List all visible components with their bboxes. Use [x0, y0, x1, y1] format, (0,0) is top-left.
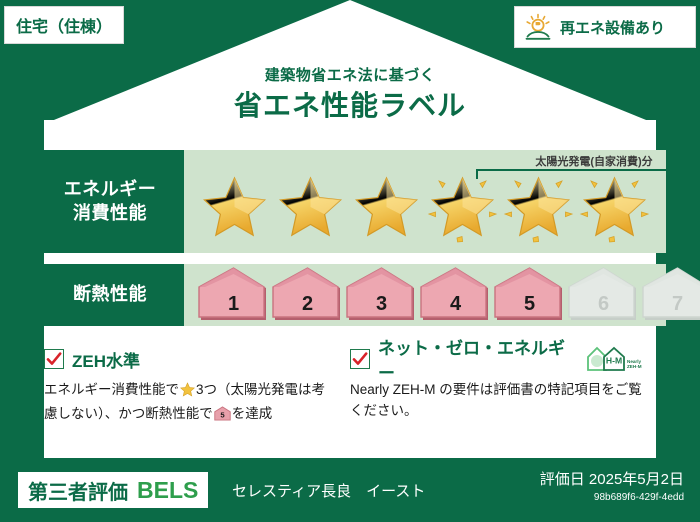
claim-zeh-standard: ZEH水準 エネルギー消費性能で3つ（太陽光発電は考慮しない）、かつ断熱性能で5…: [44, 346, 350, 448]
claim-nze-header: ネット・ゼロ・エネルギー H-M Nearly ZEH-M: [350, 346, 642, 372]
claim-zeh-header: ZEH水準: [44, 346, 336, 372]
checkbox-checked-icon: [350, 349, 370, 369]
svg-text:5: 5: [220, 411, 225, 420]
claim-nze-body: Nearly ZEH-M の要件は評価書の特記項目をご覧ください。: [350, 379, 642, 422]
nearly-zeh-m-logo: H-M Nearly ZEH-M: [584, 344, 642, 374]
insulation-level-number: 6: [568, 293, 639, 316]
claim-zeh-body-pre: エネルギー消費性能で: [44, 382, 179, 397]
insulation-level-3: 3: [346, 267, 417, 323]
insulation-level-number: 1: [198, 293, 269, 316]
claim-zeh-body-post: を達成: [232, 406, 273, 421]
bels-jp-label: 第三者評価: [28, 476, 128, 505]
star-icon: [180, 382, 195, 403]
insulation-level-number: 4: [420, 293, 491, 316]
claim-zeh-body: エネルギー消費性能で3つ（太陽光発電は考慮しない）、かつ断熱性能で5を達成: [44, 379, 336, 428]
insulation-performance-key: 断熱性能: [36, 264, 184, 326]
star-solar: [426, 174, 499, 248]
property-name: セレスティア長良 イースト: [232, 480, 425, 501]
insulation-level-number: 3: [346, 293, 417, 316]
insulation-level-number: 5: [494, 293, 565, 316]
star-solar: [502, 174, 575, 248]
footer: 第三者評価 BELS セレスティア長良 イースト 評価日 2025年5月2日 9…: [0, 460, 700, 522]
insulation-level-5: 5: [494, 267, 565, 323]
sun-icon: [523, 13, 553, 41]
energy-performance-key: エネルギー 消費性能: [36, 150, 184, 253]
star-base: [274, 174, 347, 248]
claim-zeh-title: ZEH水準: [72, 347, 140, 372]
energy-performance-row: エネルギー 消費性能 太陽光発電(自家消費)分: [36, 150, 666, 253]
claim-net-zero-energy: ネット・ゼロ・エネルギー H-M Nearly ZEH-M Nearly ZEH…: [350, 346, 656, 448]
star-solar: [578, 174, 651, 248]
insulation-level-number: 7: [642, 293, 700, 316]
insulation-level-7: 7: [642, 267, 700, 323]
solar-contribution-note: 太陽光発電(自家消費)分: [474, 153, 700, 169]
insulation-performance-row: 断熱性能 1234567: [36, 264, 666, 326]
insulation-level-scale: 1234567: [198, 267, 700, 323]
checkbox-checked-icon: [44, 349, 64, 369]
evaluation-date: 評価日 2025年5月2日: [540, 468, 684, 489]
bels-chip: 第三者評価 BELS: [18, 472, 208, 508]
evaluation-id: 98b689f6-429f-4edd: [540, 492, 684, 503]
insulation-level-4: 4: [420, 267, 491, 323]
energy-key-line2: 消費性能: [64, 202, 157, 225]
star-rating: [184, 173, 666, 249]
bels-en-label: BELS: [137, 477, 198, 504]
renewable-equipment-label: 再エネ設備あり: [560, 17, 665, 38]
label-subtitle: 建築物省エネ法に基づく: [0, 64, 700, 85]
star-base: [350, 174, 423, 248]
energy-key-line1: エネルギー: [64, 178, 157, 201]
building-type-label: 住宅（住棟）: [16, 13, 112, 37]
insulation-level-1: 1: [198, 267, 269, 323]
claim-nze-title: ネット・ゼロ・エネルギー: [378, 334, 574, 384]
insulation-level-2: 2: [272, 267, 343, 323]
building-type-chip: 住宅（住棟）: [4, 6, 124, 44]
svg-text:ZEH-M: ZEH-M: [627, 364, 642, 369]
bels-energy-label: 住宅（住棟） 再エネ設備あり 建築物省エネ法に基づく 省エネ性能ラベル: [0, 0, 700, 522]
claims-section: ZEH水準 エネルギー消費性能で3つ（太陽光発電は考慮しない）、かつ断熱性能で5…: [44, 346, 656, 448]
insulation-level-number: 2: [272, 293, 343, 316]
star-base: [198, 174, 271, 248]
evaluation-meta: 評価日 2025年5月2日 98b689f6-429f-4edd: [540, 468, 684, 503]
insulation-performance-value: 1234567: [184, 264, 666, 326]
energy-performance-value: 太陽光発電(自家消費)分: [184, 150, 666, 253]
label-title: 省エネ性能ラベル: [0, 84, 700, 124]
renewable-equipment-chip: 再エネ設備あり: [514, 6, 696, 48]
svg-text:H-M: H-M: [606, 356, 622, 366]
house-5-icon: 5: [214, 406, 231, 427]
insulation-level-6: 6: [568, 267, 639, 323]
